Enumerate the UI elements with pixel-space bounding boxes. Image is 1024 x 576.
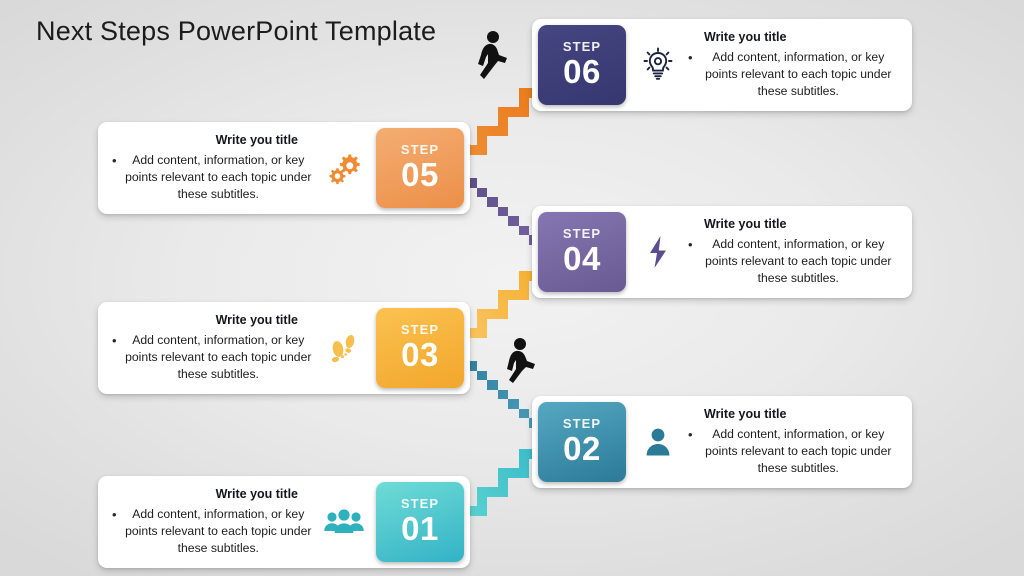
footprints-icon xyxy=(318,330,370,366)
step-number-label: 06 xyxy=(563,55,601,90)
step-word-label: STEP xyxy=(401,497,439,510)
step-number-label: 05 xyxy=(401,158,439,193)
step-card-06[interactable]: STEP 06 Write you title • Add content, i… xyxy=(532,19,912,111)
walking-person-icon xyxy=(503,337,539,390)
step-badge-04[interactable]: STEP 04 xyxy=(538,212,626,292)
step-badge-02[interactable]: STEP 02 xyxy=(538,402,626,482)
step-badge-05[interactable]: STEP 05 xyxy=(376,128,464,208)
card-heading: Write you title xyxy=(688,30,898,45)
lightbulb-icon xyxy=(632,47,684,83)
card-body-text: Add content, information, or key points … xyxy=(699,426,898,478)
card-heading: Write you title xyxy=(688,217,898,232)
step-card-04[interactable]: STEP 04 Write you title • Add content, i… xyxy=(532,206,912,298)
bullet-marker: • xyxy=(688,426,693,444)
step-text-block-02: Write you title • Add content, informati… xyxy=(684,407,912,478)
card-body-text: Add content, information, or key points … xyxy=(123,332,314,384)
step-card-05[interactable]: STEP 05 Write you title • Add content, i… xyxy=(98,122,470,214)
step-number-label: 04 xyxy=(563,242,601,277)
step-card-01[interactable]: STEP 01 Write you title • Add content, i… xyxy=(98,476,470,568)
step-badge-03[interactable]: STEP 03 xyxy=(376,308,464,388)
people-group-icon xyxy=(318,507,370,537)
step-text-block-05: Write you title • Add content, informati… xyxy=(98,133,318,204)
step-number-label: 01 xyxy=(401,512,439,547)
card-body-text: Add content, information, or key points … xyxy=(699,236,898,288)
slide-canvas: Next Steps PowerPoint Template xyxy=(0,0,1024,576)
bullet-marker: • xyxy=(112,506,117,524)
gears-icon xyxy=(318,151,370,185)
step-text-block-06: Write you title • Add content, informati… xyxy=(684,30,912,101)
step-text-block-01: Write you title • Add content, informati… xyxy=(98,487,318,558)
walking-person-icon xyxy=(471,30,511,87)
step-word-label: STEP xyxy=(563,227,601,240)
step-badge-01[interactable]: STEP 01 xyxy=(376,482,464,562)
step-word-label: STEP xyxy=(401,143,439,156)
bullet-marker: • xyxy=(112,332,117,350)
step-number-label: 02 xyxy=(563,432,601,467)
bullet-marker: • xyxy=(688,49,693,67)
step-card-02[interactable]: STEP 02 Write you title • Add content, i… xyxy=(532,396,912,488)
step-text-block-03: Write you title • Add content, informati… xyxy=(98,313,318,384)
card-heading: Write you title xyxy=(688,407,898,422)
lightning-bolt-icon xyxy=(632,234,684,270)
page-title: Next Steps PowerPoint Template xyxy=(36,16,436,47)
bullet-marker: • xyxy=(112,152,117,170)
card-body-text: Add content, information, or key points … xyxy=(699,49,898,101)
step-badge-06[interactable]: STEP 06 xyxy=(538,25,626,105)
card-body-text: Add content, information, or key points … xyxy=(123,506,314,558)
step-word-label: STEP xyxy=(401,323,439,336)
person-icon xyxy=(632,425,684,459)
step-word-label: STEP xyxy=(563,40,601,53)
card-heading: Write you title xyxy=(112,133,314,148)
card-heading: Write you title xyxy=(112,313,314,328)
card-heading: Write you title xyxy=(112,487,314,502)
step-text-block-04: Write you title • Add content, informati… xyxy=(684,217,912,288)
bullet-marker: • xyxy=(688,236,693,254)
step-card-03[interactable]: STEP 03 Write you title • Add content, i… xyxy=(98,302,470,394)
step-number-label: 03 xyxy=(401,338,439,373)
card-body-text: Add content, information, or key points … xyxy=(123,152,314,204)
step-word-label: STEP xyxy=(563,417,601,430)
